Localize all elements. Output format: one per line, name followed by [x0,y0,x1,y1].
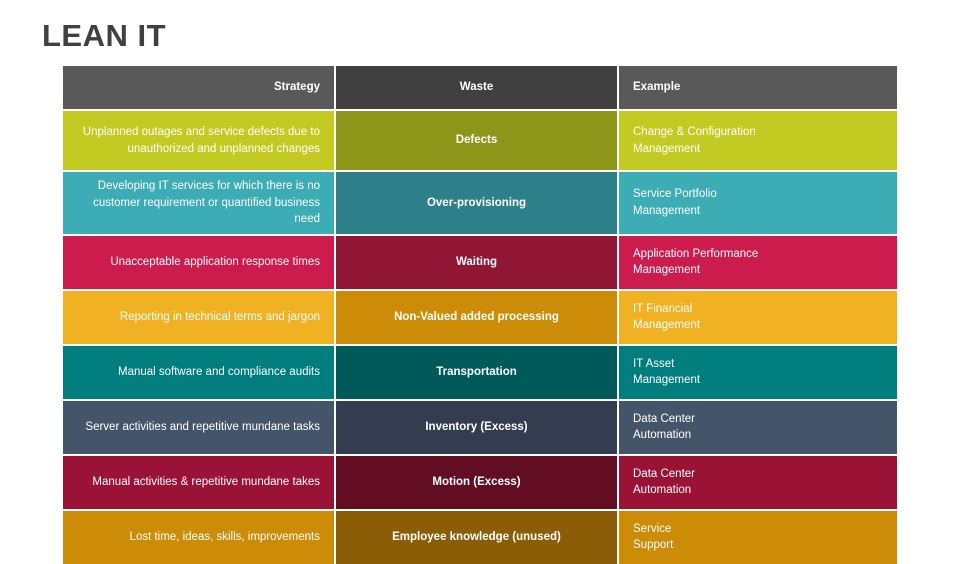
cell-strategy: Developing IT services for which there i… [63,172,334,234]
cell-example-line2: Automation [633,427,691,444]
table-row: Manual activities & repetitive mundane t… [63,456,897,509]
cell-example-line1: Data Center [633,466,695,483]
cell-example: Application PerformanceManagement [619,236,897,289]
cell-example-line2: Management [633,317,700,334]
cell-waste: Over-provisioning [336,172,617,234]
table-row: Manual software and compliance auditsTra… [63,346,897,399]
cell-example-line2: Management [633,203,700,220]
table-row: Lost time, ideas, skills, improvementsEm… [63,511,897,564]
cell-strategy: Reporting in technical terms and jargon [63,291,334,344]
cell-waste: Waiting [336,236,617,289]
cell-waste: Inventory (Excess) [336,401,617,454]
cell-waste: Transportation [336,346,617,399]
cell-strategy: Server activities and repetitive mundane… [63,401,334,454]
page-title: LEAN IT [42,17,166,55]
cell-example-line1: IT Financial [633,301,692,318]
cell-example-line1: Service Portfolio [633,186,717,203]
header-cell-strategy: Strategy [63,66,334,109]
cell-example-line2: Management [633,372,700,389]
header-cell-waste: Waste [336,66,617,109]
cell-example: Change & ConfigurationManagement [619,111,897,170]
cell-example: IT FinancialManagement [619,291,897,344]
cell-strategy: Lost time, ideas, skills, improvements [63,511,334,564]
cell-strategy: Unplanned outages and service defects du… [63,111,334,170]
lean-it-table: Strategy Waste Example Unplanned outages… [63,66,897,564]
cell-example-line1: Data Center [633,411,695,428]
cell-example: Data CenterAutomation [619,401,897,454]
cell-example: Service PortfolioManagement [619,172,897,234]
table-row: Unplanned outages and service defects du… [63,111,897,170]
table-body: Unplanned outages and service defects du… [63,111,897,564]
cell-example: Data CenterAutomation [619,456,897,509]
cell-strategy: Manual software and compliance audits [63,346,334,399]
table-row: Developing IT services for which there i… [63,172,897,234]
cell-example-line1: IT Asset [633,356,674,373]
table-row: Reporting in technical terms and jargonN… [63,291,897,344]
cell-example-line1: Change & Configuration [633,124,756,141]
table-row: Server activities and repetitive mundane… [63,401,897,454]
header-cell-example: Example [619,66,897,109]
cell-example-line2: Automation [633,482,691,499]
cell-example: ServiceSupport [619,511,897,564]
cell-waste: Non-Valued added processing [336,291,617,344]
cell-strategy: Unacceptable application response times [63,236,334,289]
cell-waste: Motion (Excess) [336,456,617,509]
table-header-row: Strategy Waste Example [63,66,897,109]
cell-example-line1: Application Performance [633,246,758,263]
cell-waste: Employee knowledge (unused) [336,511,617,564]
cell-example-line2: Support [633,537,673,554]
cell-example-line2: Management [633,141,700,158]
slide-canvas: LEAN IT Strategy Waste Example Unplanned… [0,0,960,540]
cell-example: IT AssetManagement [619,346,897,399]
cell-strategy: Manual activities & repetitive mundane t… [63,456,334,509]
cell-example-line1: Service [633,521,671,538]
cell-waste: Defects [336,111,617,170]
cell-example-line2: Management [633,262,700,279]
table-row: Unacceptable application response timesW… [63,236,897,289]
